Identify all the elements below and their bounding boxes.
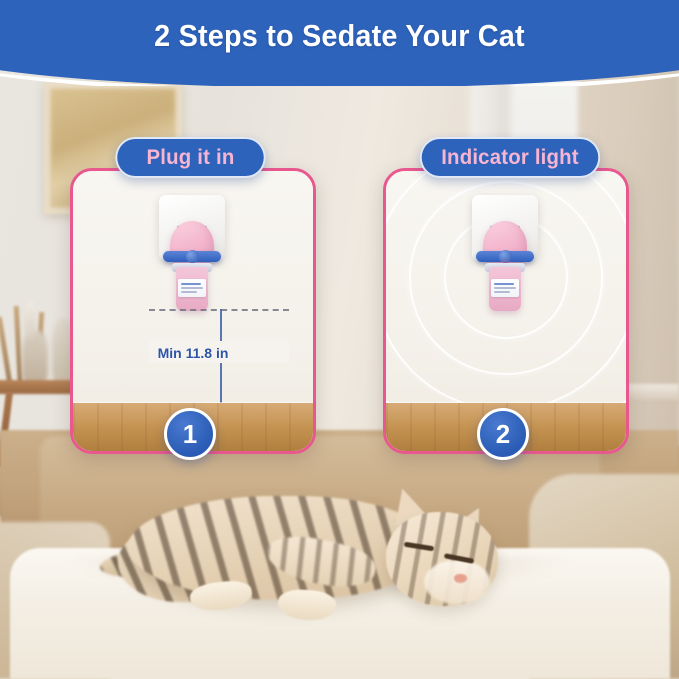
bottle-label-line (494, 283, 514, 285)
step-2-label-pill: Indicator light (420, 137, 600, 178)
pheromone-diffuser (475, 221, 535, 317)
bottle-label (491, 279, 519, 297)
decor-vase (24, 300, 36, 340)
step-2-label-text: Indicator light (441, 146, 579, 170)
decor-vase (22, 330, 48, 386)
bottle-label-line (181, 291, 197, 293)
bottle-label-line (181, 287, 203, 289)
diffuser-refill-bottle (489, 267, 521, 311)
bottle-label-line (494, 287, 516, 289)
page-title: 2 Steps to Sedate Your Cat (24, 18, 655, 54)
step-1-label-pill: Plug it in (115, 137, 265, 178)
diffuser-knob (186, 250, 199, 263)
step-1-number-badge: 1 (164, 408, 216, 460)
bottle-label-line (181, 283, 201, 285)
diffuser-refill-bottle (176, 267, 208, 311)
sleeping-cat (118, 478, 548, 638)
step-2-number-badge: 2 (477, 408, 529, 460)
header-banner: 2 Steps to Sedate Your Cat (0, 0, 679, 86)
bottle-label-line (494, 291, 510, 293)
cat-nose (454, 574, 467, 583)
dimension-label: Min 11.8 in (73, 345, 313, 361)
step-1-label-text: Plug it in (147, 146, 235, 170)
bottle-label (178, 279, 206, 297)
infographic-canvas: Min 11.8 in (0, 0, 679, 679)
dimension-guide-top (149, 309, 289, 311)
pheromone-diffuser (162, 221, 222, 317)
